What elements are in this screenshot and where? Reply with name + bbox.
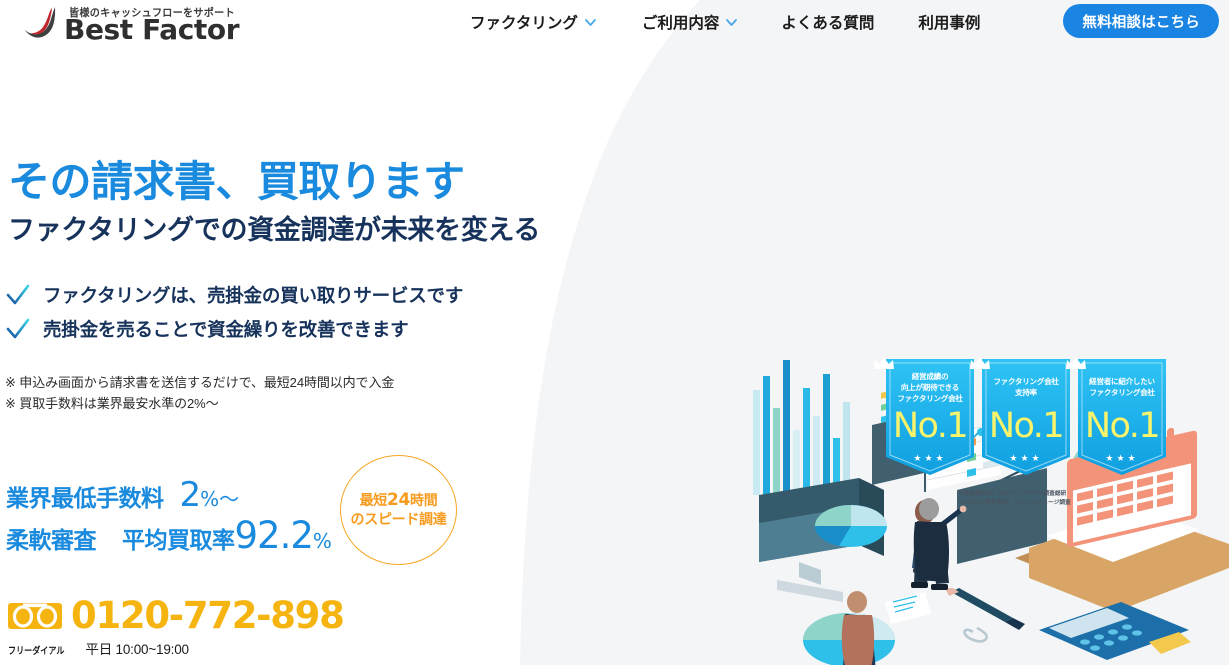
business-hours: 平日 10:00~19:00 — [85, 638, 188, 658]
invoice-document — [885, 592, 931, 624]
note-line: ※ 申込み画面から請求書を送信するだけで、最短24時間以内で入金 — [5, 372, 394, 393]
nav-item-label: ファクタリング — [470, 11, 578, 33]
caption-line: 向上が期待できる — [884, 382, 976, 393]
crown-icon — [969, 357, 991, 370]
nav-item-case-studies[interactable]: 利用事例 — [918, 11, 980, 33]
nav-item-factoring[interactable]: ファクタリング — [470, 11, 596, 33]
speed-suffix: 時間 — [410, 492, 437, 508]
calculator — [1039, 602, 1191, 660]
speed-badge-line2: のスピード調達 — [351, 510, 447, 529]
stat-average-rate: 柔軟審査 平均買取率 92.2 % — [6, 514, 332, 553]
hero-content: その請求書、買取ります ファクタリングでの資金調達が未来を変える ファクタリング… — [0, 0, 640, 665]
phone-number[interactable]: 0120-772-898 — [71, 597, 344, 635]
badge-support-rate: ファクタリング会社 支持率 No.1 ★★★ — [980, 357, 1072, 477]
contact-phone[interactable]: 0120-772-898 フリーダイアル 平日 10:00~19:00 — [8, 597, 344, 658]
site-header: 皆様のキャッシュフローをサポート Best Factor ファクタリング ご利用… — [0, 0, 1229, 44]
disclaimer-line: ※実施委託先：日本ナンバーワン調査総研 — [958, 490, 1071, 499]
badge-caption: 経営者に紹介したい ファクタリング会社 — [1076, 376, 1168, 398]
chevron-down-icon — [585, 19, 596, 26]
badge-stars: ★★★ — [980, 453, 1072, 464]
chevron-down-icon — [726, 19, 737, 26]
no1-badge-group: 経営成績の 向上が期待できる ファクタリング会社 No.1 ★★★ ファクタリン… — [884, 357, 1168, 477]
caption-line: ファクタリング会社 — [980, 376, 1072, 387]
badge-rank: No.1 — [884, 407, 976, 445]
main-navigation: ファクタリング ご利用内容 よくある質問 利用事例 — [470, 0, 980, 44]
hero-check-list: ファクタリングは、売掛金の買い取りサービスです 売掛金を売ることで資金繰りを改善… — [6, 280, 463, 348]
brand-logo[interactable]: 皆様のキャッシュフローをサポート Best Factor — [14, 2, 254, 42]
speed-hours: 24 — [387, 490, 410, 510]
speed-badge: 最短24時間 のスピード調達 — [340, 455, 457, 565]
badge-caption: 経営成績の 向上が期待できる ファクタリング会社 — [884, 371, 976, 404]
caption-line: 支持率 — [980, 387, 1072, 398]
free-consultation-button[interactable]: 無料相談はこちら — [1063, 4, 1219, 38]
pen — [945, 588, 1025, 630]
badge-rank: No.1 — [1076, 407, 1168, 445]
note-line: ※ 買取手数料は業界最安水準の2%〜 — [5, 393, 394, 414]
speed-badge-line1: 最短24時間 — [360, 491, 438, 510]
caption-line: ファクタリング会社 — [1076, 387, 1168, 398]
badge-stars: ★★★ — [884, 453, 976, 464]
speed-prefix: 最短 — [360, 492, 387, 508]
stat-label: 平均買取率 — [122, 521, 235, 555]
caption-line: ファクタリング会社 — [884, 393, 976, 404]
survey-disclaimer: ※実施委託先：日本ナンバーワン調査総研 2024年2月調査実施：サイトのイメージ… — [958, 490, 1071, 507]
hero-notes: ※ 申込み画面から請求書を送信するだけで、最短24時間以内で入金 ※ 買取手数料… — [5, 372, 394, 414]
j-swoosh-logo-icon — [22, 6, 66, 42]
paperclip — [964, 628, 986, 641]
list-item: 売掛金を売ることで資金繰りを改善できます — [6, 314, 463, 344]
check-item-label: 売掛金を売ることで資金繰りを改善できます — [43, 316, 408, 342]
check-icon — [6, 284, 30, 306]
badge-stars: ★★★ — [1076, 453, 1168, 464]
crown-icon — [1065, 357, 1087, 370]
stat-unit: % — [313, 529, 332, 553]
stat-unit: %〜 — [200, 483, 239, 512]
hero-headline: その請求書、買取ります — [8, 148, 465, 209]
caption-line: 経営成績の — [884, 371, 976, 382]
hero-stats: 業界最低手数料 2 %〜 柔軟審査 平均買取率 92.2 % — [6, 475, 332, 553]
stat-value: 92.2 — [235, 514, 313, 557]
stat-label-flexible-screening: 柔軟審査 — [6, 521, 96, 555]
bar-chart — [753, 360, 850, 495]
badge-caption: ファクタリング会社 支持率 — [980, 376, 1072, 398]
nav-item-services[interactable]: ご利用内容 — [642, 11, 738, 33]
stat-value: 2 — [180, 475, 201, 515]
nav-item-label: 利用事例 — [918, 11, 980, 33]
people — [839, 591, 876, 665]
logo-wordmark: Best Factor — [64, 13, 239, 46]
phone-row: 0120-772-898 — [8, 597, 344, 635]
nav-item-faq[interactable]: よくある質問 — [781, 11, 874, 33]
pie-chart — [815, 505, 887, 547]
freedial-icon — [8, 599, 62, 633]
badge-rank: No.1 — [980, 407, 1072, 445]
phone-subline: フリーダイアル 平日 10:00~19:00 — [8, 638, 344, 658]
caption-line: 経営者に紹介したい — [1076, 376, 1168, 387]
freedial-label: フリーダイアル — [8, 643, 64, 657]
hero-subheadline: ファクタリングでの資金調達が未来を変える — [8, 208, 540, 247]
badge-recommend-to-managers: 経営者に紹介したい ファクタリング会社 No.1 ★★★ — [1076, 357, 1168, 477]
stat-label: 業界最低手数料 — [6, 479, 164, 513]
crown-icon — [873, 357, 895, 370]
check-item-label: ファクタリングは、売掛金の買い取りサービスです — [43, 282, 463, 308]
disclaimer-line: 2024年2月調査実施：サイトのイメージ調査 — [958, 499, 1071, 508]
nav-item-label: ご利用内容 — [642, 11, 720, 33]
check-icon — [6, 318, 30, 340]
badge-management-performance: 経営成績の 向上が期待できる ファクタリング会社 No.1 ★★★ — [884, 357, 976, 477]
stat-lowest-fee: 業界最低手数料 2 %〜 — [6, 475, 332, 514]
nav-item-label: よくある質問 — [781, 11, 874, 33]
list-item: ファクタリングは、売掛金の買い取りサービスです — [6, 280, 463, 310]
